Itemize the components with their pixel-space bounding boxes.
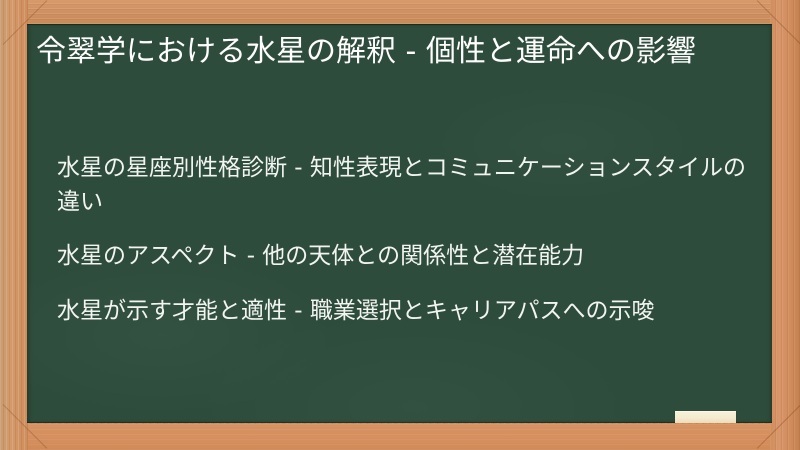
chalkboard-surface: 令翠学における水星の解釈 - 個性と運命への影響 水星の星座別性格診断 - 知性… [27, 24, 772, 423]
frame-rail-left [0, 0, 28, 450]
slide-title: 令翠学における水星の解釈 - 個性と運命への影響 [36, 30, 736, 73]
list-item: 水星のアスペクト - 他の天体との関係性と潜在能力 [57, 240, 747, 274]
frame-rail-top [0, 0, 800, 24]
list-item: 水星が示す才能と適性 - 職業選択とキャリアパスへの示唆 [57, 295, 747, 329]
list-item: 水星の星座別性格診断 - 知性表現とコミュニケーションスタイルの違い [57, 152, 747, 219]
chalk-eraser-icon [675, 411, 736, 423]
chalkboard-slide: 令翠学における水星の解釈 - 個性と運命への影響 水星の星座別性格診断 - 知性… [0, 0, 800, 450]
frame-rail-bottom [0, 424, 800, 450]
slide-topic-list: 水星の星座別性格診断 - 知性表現とコミュニケーションスタイルの違い 水星のアス… [57, 152, 747, 328]
frame-rail-right [770, 0, 800, 450]
